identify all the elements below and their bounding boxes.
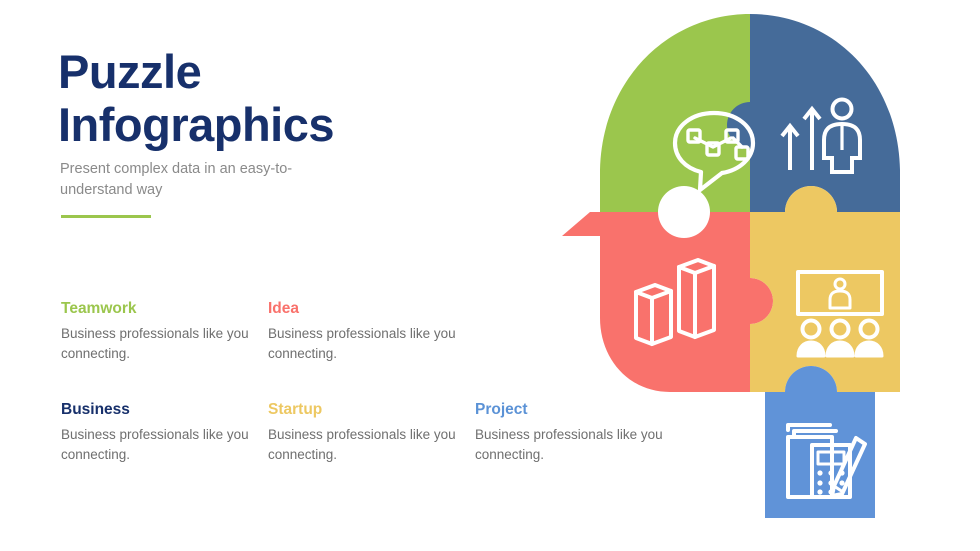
slide-canvas: Puzzle Infographics Present complex data… <box>0 0 980 551</box>
puzzle-piece-startup[interactable] <box>750 186 900 392</box>
page-title-line-1: Puzzle <box>58 46 478 99</box>
puzzle-head-svg <box>540 0 980 551</box>
feature-heading-idea: Idea <box>268 300 475 317</box>
feature-grid: Teamwork Business professionals like you… <box>61 300 531 464</box>
page-title-line-2: Infographics <box>58 99 478 152</box>
feature-body-idea: Business professionals like you connecti… <box>268 324 475 363</box>
page-title: Puzzle Infographics <box>58 46 478 151</box>
feature-row-1: Teamwork Business professionals like you… <box>61 300 531 363</box>
feature-heading-startup: Startup <box>268 401 475 418</box>
feature-item-business[interactable]: Business Business professionals like you… <box>61 401 268 464</box>
puzzle-head-graphic <box>540 0 980 551</box>
feature-item-startup[interactable]: Startup Business professionals like you … <box>268 401 475 464</box>
feature-body-startup: Business professionals like you connecti… <box>268 425 475 464</box>
feature-item-teamwork[interactable]: Teamwork Business professionals like you… <box>61 300 268 363</box>
feature-body-business: Business professionals like you connecti… <box>61 425 268 464</box>
feature-item-idea[interactable]: Idea Business professionals like you con… <box>268 300 475 363</box>
text-panel: Puzzle Infographics Present complex data… <box>0 0 540 551</box>
feature-body-teamwork: Business professionals like you connecti… <box>61 324 268 363</box>
accent-divider <box>61 215 151 218</box>
feature-heading-business: Business <box>61 401 268 418</box>
page-subtitle: Present complex data in an easy-to-under… <box>60 159 315 200</box>
feature-heading-teamwork: Teamwork <box>61 300 268 317</box>
feature-row-2: Business Business professionals like you… <box>61 401 531 464</box>
puzzle-piece-business[interactable] <box>562 212 773 392</box>
